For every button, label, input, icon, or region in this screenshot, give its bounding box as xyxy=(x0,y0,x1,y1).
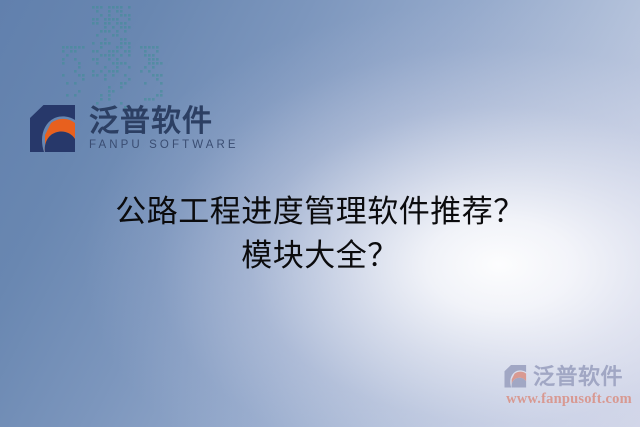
fanpu-hexagon-mark-icon xyxy=(27,103,83,155)
watermark: 泛普软件 www.fanpusoft.com xyxy=(503,364,635,407)
page-title-line-1: 公路工程进度管理软件推荐？ xyxy=(0,190,640,234)
watermark-url: www.fanpusoft.com xyxy=(503,392,635,407)
brand-name-en: FANPU SOFTWARE xyxy=(89,139,239,152)
page-title: 公路工程进度管理软件推荐？ 模块大全？ xyxy=(0,190,640,278)
brand-wordmark: 泛普软件 FANPU SOFTWARE xyxy=(89,106,239,152)
fanpu-hexagon-mark-watermark-icon xyxy=(503,364,530,389)
promotional-banner: 泛普软件 FANPU SOFTWARE 公路工程进度管理软件推荐？ 模块大全？ … xyxy=(0,0,640,427)
watermark-brand-name: 泛普软件 xyxy=(533,366,623,388)
watermark-logo-row: 泛普软件 xyxy=(503,364,635,389)
brand-logo: 泛普软件 FANPU SOFTWARE xyxy=(27,103,239,155)
dotted-cityscape-pattern-icon xyxy=(62,6,170,110)
page-title-line-2: 模块大全？ xyxy=(0,234,640,278)
brand-name-cn: 泛普软件 xyxy=(89,106,239,138)
